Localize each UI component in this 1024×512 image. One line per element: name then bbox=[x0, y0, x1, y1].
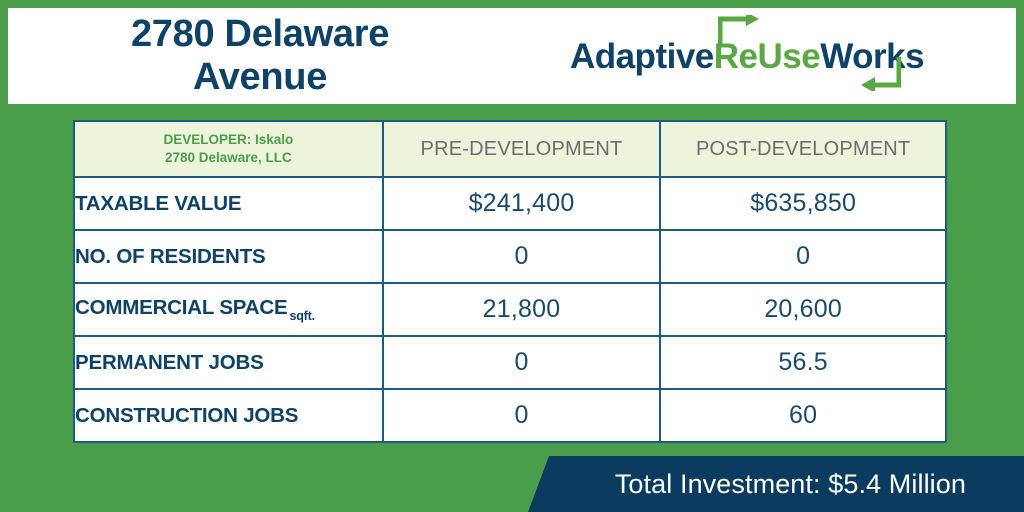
project-title-block: 2780 Delaware Avenue bbox=[8, 13, 478, 98]
metrics-table-wrap: DEVELOPER: Iskalo 2780 Delaware, LLC PRE… bbox=[73, 120, 947, 443]
row-label: TAXABLE VALUE bbox=[74, 177, 383, 230]
row-label: NO. OF RESIDENTS bbox=[74, 230, 383, 283]
row-label: PERMANENT JOBS bbox=[74, 336, 383, 389]
cell-pre-development: $241,400 bbox=[383, 177, 661, 230]
arrow-up-right-icon bbox=[718, 15, 762, 45]
cell-pre-development: 21,800 bbox=[383, 283, 661, 336]
column-header-post: POST-DEVELOPMENT bbox=[660, 121, 946, 177]
brand-logo: AdaptiveReUseWorks bbox=[478, 8, 1016, 104]
column-header-pre: PRE-DEVELOPMENT bbox=[383, 121, 661, 177]
cell-post-development: 0 bbox=[660, 230, 946, 283]
cell-post-development: 60 bbox=[660, 389, 946, 442]
table-row: PERMANENT JOBS056.5 bbox=[74, 336, 946, 389]
infographic-root: 2780 Delaware Avenue AdaptiveReUseWorks bbox=[0, 0, 1024, 512]
row-label-unit: sqft. bbox=[289, 309, 314, 323]
table-row: TAXABLE VALUE$241,400$635,850 bbox=[74, 177, 946, 230]
row-label-text: PERMANENT JOBS bbox=[75, 351, 264, 374]
row-label-text: CONSTRUCTION JOBS bbox=[75, 404, 298, 427]
table-row: NO. OF RESIDENTS00 bbox=[74, 230, 946, 283]
row-label: COMMERCIAL SPACEsqft. bbox=[74, 283, 383, 336]
cell-post-development: 56.5 bbox=[660, 336, 946, 389]
table-row: COMMERCIAL SPACEsqft.21,80020,600 bbox=[74, 283, 946, 336]
project-title-line-1: 2780 Delaware bbox=[131, 13, 389, 55]
logo-wrap: AdaptiveReUseWorks bbox=[570, 29, 924, 84]
project-title-line-2: Avenue bbox=[193, 56, 327, 98]
footer-banner: Total Investment: $5.4 Million bbox=[0, 456, 1024, 512]
cell-post-development: $635,850 bbox=[660, 177, 946, 230]
table-header-row: DEVELOPER: Iskalo 2780 Delaware, LLC PRE… bbox=[74, 121, 946, 177]
cell-pre-development: 0 bbox=[383, 230, 661, 283]
page-title: 2780 Delaware Avenue bbox=[42, 13, 478, 98]
developer-line-2: 2780 Delaware, LLC bbox=[75, 149, 382, 167]
table-row: CONSTRUCTION JOBS060 bbox=[74, 389, 946, 442]
cell-post-development: 20,600 bbox=[660, 283, 946, 336]
row-label-text: TAXABLE VALUE bbox=[75, 192, 241, 215]
header-band: 2780 Delaware Avenue AdaptiveReUseWorks bbox=[8, 8, 1016, 104]
metrics-table-body: DEVELOPER: Iskalo 2780 Delaware, LLC PRE… bbox=[74, 121, 946, 442]
developer-cell: DEVELOPER: Iskalo 2780 Delaware, LLC bbox=[74, 121, 383, 177]
row-label-text: COMMERCIAL SPACE bbox=[75, 296, 287, 319]
metrics-table: DEVELOPER: Iskalo 2780 Delaware, LLC PRE… bbox=[73, 120, 947, 443]
total-investment-label: Total Investment: $5.4 Million bbox=[615, 456, 966, 512]
arrow-down-left-icon bbox=[857, 57, 901, 91]
row-label: CONSTRUCTION JOBS bbox=[74, 389, 383, 442]
developer-line-1: DEVELOPER: Iskalo bbox=[75, 131, 382, 149]
cell-pre-development: 0 bbox=[383, 336, 661, 389]
row-label-text: NO. OF RESIDENTS bbox=[75, 245, 265, 268]
cell-pre-development: 0 bbox=[383, 389, 661, 442]
logo-word-adaptive: Adaptive bbox=[570, 37, 714, 76]
